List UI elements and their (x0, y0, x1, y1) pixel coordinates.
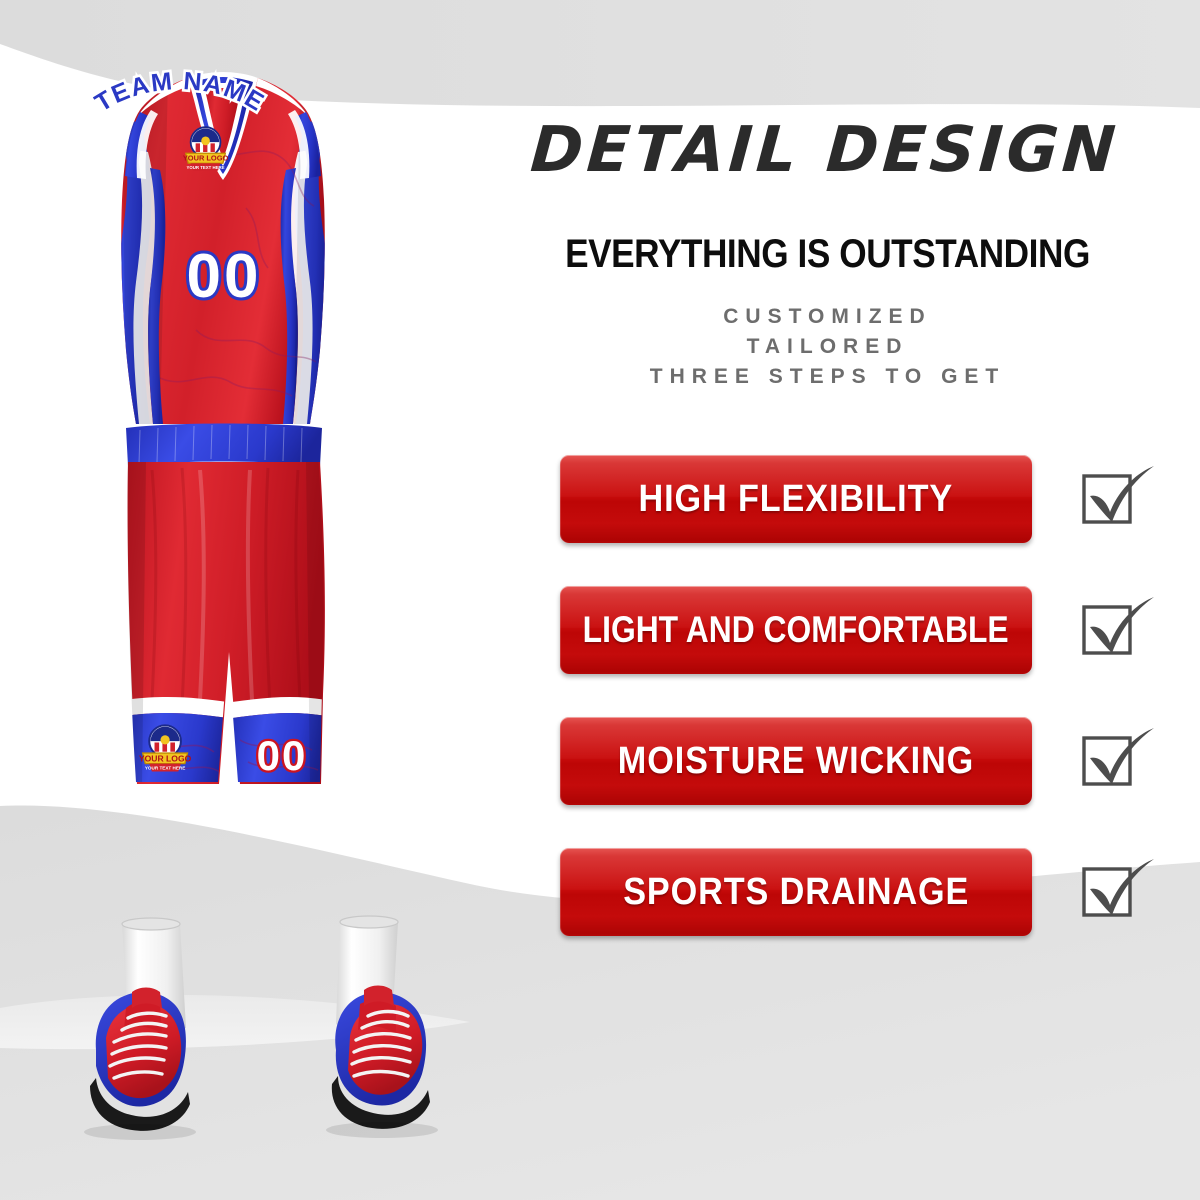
checkbox-checked-icon[interactable] (1078, 597, 1144, 663)
page-subtitle: EVERYTHING IS OUTSTANDING (513, 232, 1142, 277)
feature-row: HIGH FLEXIBILITY (560, 455, 1180, 543)
feature-list: HIGH FLEXIBILITY LIGHT AND COMFORTABLE (560, 455, 1180, 979)
jersey-number-text: 00 (187, 242, 262, 311)
jersey-logo-subtext: YOUR TEXT HERE (187, 165, 225, 170)
feature-row: LIGHT AND COMFORTABLE (560, 586, 1180, 674)
tagline-1: CUSTOMIZED (470, 302, 1185, 332)
check-glyph (1078, 585, 1158, 665)
tagline-3: THREE STEPS TO GET (470, 362, 1185, 392)
check-glyph (1078, 847, 1158, 927)
checkbox-checked-icon[interactable] (1078, 466, 1144, 532)
shorts-number-text: 00 (257, 732, 308, 779)
feature-banner-light-and-comfortable[interactable]: LIGHT AND COMFORTABLE (560, 586, 1032, 674)
feature-row: SPORTS DRAINAGE (560, 848, 1180, 936)
feature-label: HIGH FLEXIBILITY (639, 478, 954, 521)
check-glyph (1078, 454, 1158, 534)
checkbox-checked-icon[interactable] (1078, 859, 1144, 925)
product-image-group: TEAM NAME 00 YOUR LOGO (0, 0, 500, 1200)
product-detail-poster: TEAM NAME 00 YOUR LOGO (0, 0, 1200, 1200)
shoe-right-graphic (326, 916, 438, 1138)
tagline-2: TAILORED (470, 332, 1185, 362)
shorts-graphic: 00 YOUR LOGO YOUR TEXT HERE (124, 424, 326, 791)
jersey-graphic: TEAM NAME 00 YOUR LOGO (90, 67, 329, 424)
feature-label: MOISTURE WICKING (618, 740, 974, 783)
shorts-logo-text: YOUR LOGO (139, 754, 192, 764)
feature-row: MOISTURE WICKING (560, 717, 1180, 805)
shorts-logo-subtext: YOUR TEXT HERE (145, 766, 185, 771)
checkbox-checked-icon[interactable] (1078, 728, 1144, 794)
check-glyph (1078, 716, 1158, 796)
marketing-content: DETAIL DESIGN EVERYTHING IS OUTSTANDING … (470, 0, 1200, 1200)
feature-banner-moisture-wicking[interactable]: MOISTURE WICKING (560, 717, 1032, 805)
uniform-illustration: TEAM NAME 00 YOUR LOGO (0, 0, 500, 1200)
page-title: DETAIL DESIGN (468, 118, 1182, 181)
feature-label: LIGHT AND COMFORTABLE (583, 609, 1009, 651)
shoe-left-graphic (84, 918, 196, 1140)
jersey-logo-text: YOUR LOGO (183, 154, 229, 163)
feature-banner-high-flexibility[interactable]: HIGH FLEXIBILITY (560, 455, 1032, 543)
feature-banner-sports-drainage[interactable]: SPORTS DRAINAGE (560, 848, 1032, 936)
tagline-group: CUSTOMIZED TAILORED THREE STEPS TO GET (470, 302, 1185, 392)
feature-label: SPORTS DRAINAGE (623, 871, 969, 914)
